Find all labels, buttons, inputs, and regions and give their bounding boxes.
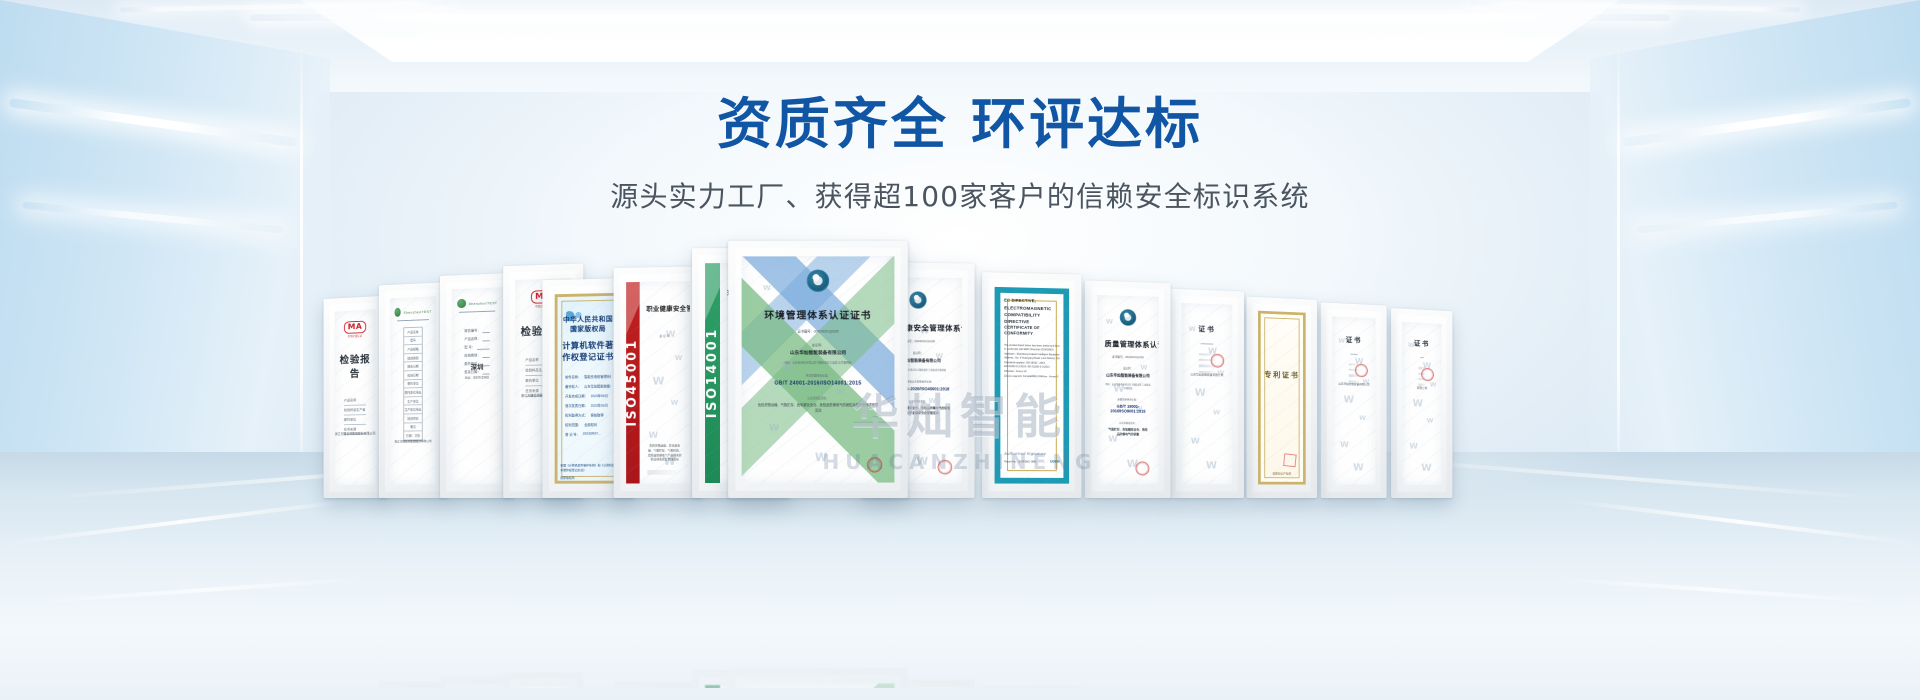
certificate-footer: 国家知识产权局 (1258, 472, 1306, 476)
certificate-body: 中华人民共和国国家版权局计算机软件著作权登记证书软件名称：智能充电桩管理系统 V… (555, 293, 622, 484)
iso-standard-sidebar: ISO14001 (705, 263, 720, 483)
paper-watermark-w: W (1191, 437, 1200, 446)
certificate-mat: WWWWWWW证书有限公司 (1397, 315, 1446, 492)
certificate-title: 计算机软件著作权登记证书 (561, 339, 614, 363)
paper-watermark-w: W (1427, 417, 1434, 424)
paper-watermark-w: W (1353, 461, 1364, 473)
certificate-field-label: 开发完成日期： (565, 393, 588, 398)
certificate-issuer-name: ShenzhenTEST (403, 309, 431, 315)
cert-text-line: 委托单位 (344, 415, 366, 425)
certificate-frame-cert-14[interactable]: WWWWWWW证书山东华灿智能装备有限公司 (1321, 302, 1387, 498)
paper-watermark-w: W (666, 330, 676, 340)
cert-text-line: 检测项目 (404, 414, 422, 423)
paper-watermark-w: W (1413, 397, 1423, 409)
certificate-paper: ISO45001WWWWWWW职业健康安全管理体系认证证书兹 证 明危险货物运输… (626, 281, 690, 483)
certificate-field-value: 2023SR07... (583, 432, 611, 437)
certificate-frame-cert-02[interactable]: ShenzhenTEST产品名称型号产品规格检测类别报告日期检测日期委托单位委托… (379, 282, 448, 498)
certificate-title: 证书 (1337, 334, 1372, 345)
certificate-scope-label: 认证范围及活动： (1105, 421, 1152, 425)
cma-badge-block: MA中国计量认证 (339, 320, 372, 338)
certificate-footnote: 依据《计算机软件保护条例》和《计算机软件著作权登记办法》 (560, 463, 615, 472)
certificate-field-label: 著作权人： (565, 384, 581, 389)
certificate-field-value (482, 338, 489, 342)
certificate-divider (397, 319, 429, 321)
certificate-field-value (482, 355, 489, 359)
certificate-mat: WWWWWWW质量管理体系认证证书证书编号：00Q9001Q0095兹证明：山东… (1091, 287, 1164, 491)
certificate-footer: 深圳 (452, 362, 503, 372)
paper-watermark-w: W (1359, 414, 1366, 421)
certificate-field-row: 软件名称：智能充电桩管理系统 V1.0 (565, 374, 611, 379)
page-title: 资质齐全 环评达标 (0, 92, 1920, 157)
certificate-footer: 山东华灿智能装备有限公司 (1332, 382, 1375, 387)
certificate-body-lines: The product listed below has been tested… (1004, 344, 1059, 380)
certificate-frame-cert-15[interactable]: WWWWWWW证书有限公司 (1391, 308, 1452, 498)
certificate-footer: 浙江方圆检测集团股份有限公司 (335, 431, 376, 436)
certificate-number: 证书编号：00Q9001Q0095 (1105, 355, 1152, 360)
certificate-field-label: 型 号： (464, 346, 475, 351)
certificate-scope: 气瓶贮存、危氧罐安全仓、危险品防爆电气的销售 (1105, 427, 1152, 436)
certificate-company-label: 兹证明： (751, 343, 886, 347)
certificate-body: WWWWWWW职业健康安全管理体系认证证书兹 证 明危险货物运输、危化品仓储、气… (639, 281, 690, 483)
certificate-heading-line: ELECTROMAGNETIC COMPATIBILITY DIRECTIVE (1004, 304, 1059, 326)
paper-watermark-w: W (1195, 387, 1206, 399)
certificate-paper: EC DIRECTIVE,ELECTROMAGNETIC COMPATIBILI… (995, 287, 1070, 484)
certificate-title: 检验报告 (339, 351, 372, 380)
certificate-frame-cert-13[interactable]: 专利证书国家知识产权局 (1246, 297, 1317, 498)
certificate-title: 质量管理体系认证证书 (1105, 339, 1152, 350)
page-subtitle: 源头实力工厂、获得超100家客户的信赖安全标识系统 (0, 175, 1920, 215)
certificate-standard-value: GB/T 24001-2016/ISO14001:2015 (751, 381, 886, 387)
certificate-paper: WWWWWWW证书山东华灿智能装备有限公司 (1332, 316, 1375, 484)
certificate-red-stamp-icon (866, 456, 884, 474)
paper-watermark-w: W (647, 306, 654, 314)
certificate-frame-cert-11[interactable]: WWWWWWW质量管理体系认证证书证书编号：00Q9001Q0095兹证明：山东… (1085, 280, 1171, 498)
certificate-standard-label: 环境管理体系标准： (751, 374, 886, 378)
certificate-field-value (482, 330, 489, 334)
certificate-paper: WWWWWWW证书有限公司 (1402, 322, 1441, 485)
ceiling-light-strip-2 (420, 36, 1500, 41)
certificate-field-row: 首次发表日期：2023年06月 (565, 403, 611, 408)
certificate-body: 环境管理体系认证证书证书编号：00R24001Q0095兹证明：山东华灿智能装备… (742, 256, 895, 482)
certificate-signature-block (647, 470, 682, 475)
certificate-frame-cert-06[interactable]: ISO45001WWWWWWW职业健康安全管理体系认证证书兹 证 明危险货物运输… (614, 266, 703, 498)
certificate-heading-line: CERTIFICATE OF CONFORMITY (1004, 325, 1059, 339)
certificate-scope-label: 认证范围及活动： (751, 396, 886, 400)
paper-watermark-w: W (653, 374, 665, 387)
banner-stage: 资质齐全 环评达标 源头实力工厂、获得超100家客户的信赖安全标识系统 MA中国… (0, 0, 1920, 700)
certificate-company-address: 地址：山东省济南市章丘区刁镇街道东工业园北京路西段 (1105, 382, 1152, 390)
ceiling-light-strip-1 (250, 14, 1670, 21)
certificate-scope: 危险货物运输、危化品仓储、气瓶贮存、气瓶检验、危险品防爆电气产品相关的职业健康安… (647, 444, 682, 462)
certificate-frame-cert-10[interactable]: EC DIRECTIVE,ELECTROMAGNETIC COMPATIBILI… (982, 272, 1081, 498)
certificate-mat: MA中国计量认证检验报告产品名称检验样品生产者委托单位任务来源浙江方圆检测集团股… (329, 302, 380, 492)
certificate-paper: WWWWWWW质量管理体系认证证书证书编号：00Q9001Q0095兹证明：山东… (1097, 295, 1158, 484)
certificate-divider (1201, 343, 1214, 344)
sidebar-corner-accent (626, 282, 639, 335)
certificate-company-name: 山东华灿智能装备有限公司 (1105, 373, 1152, 379)
certificate-field-label: 登 记 号： (565, 432, 580, 437)
certificate-divider (459, 311, 495, 313)
certificate-field-row: 检测类别： (464, 354, 489, 359)
certificate-paper: WWWWWWW环境管理体系认证证书证书编号：00R24001Q0095兹证明：山… (742, 256, 895, 482)
certificate-mat: 专利证书国家知识产权局 (1253, 303, 1311, 492)
certificate-paper-content: ShenzhenTEST报告编号：产品名称：型 号：检测类别：委托单位：签发日期… (452, 287, 503, 385)
certificate-title: 环境管理体系认证证书 (751, 307, 886, 321)
sidebar-corner-accent (705, 263, 720, 320)
certificate-field-row: 权利范围：全部权利 (565, 422, 611, 427)
certificate-company-name: 山东华灿智能装备有限公司 (751, 350, 886, 356)
certificate-footer: 山东华灿智能装备有限公司 (1181, 372, 1232, 377)
certificate-mat: WWWWWWW证书山东华灿智能装备有限公司 (1327, 309, 1381, 492)
ceiling-inner-panel (300, 0, 1620, 62)
certificate-company-address: 地址：山东省济南市章丘区刁镇街道东工业园 北京路西段 (751, 360, 886, 364)
certificate-field-value: 2023年06月 (591, 403, 611, 408)
paper-watermark-w: W (649, 431, 659, 441)
certificate-field-label: 软件名称： (565, 374, 581, 379)
certificate-paper: WWWWWWW证书山东华灿智能装备有限公司 (1181, 303, 1232, 484)
iso-standard-sidebar: ISO45001 (626, 282, 639, 483)
green-logo-icon (395, 308, 401, 317)
certificate-gold-frame (1258, 311, 1306, 485)
certification-seal-icon (1120, 309, 1136, 326)
paper-watermark-w: W (1213, 409, 1220, 416)
certificate-wall: MA中国计量认证检验报告产品名称检验样品生产者委托单位任务来源浙江方圆检测集团股… (0, 228, 1920, 498)
certificate-company-label: 兹证明： (1105, 366, 1152, 371)
certificate-mat: WWWWWWW环境管理体系认证证书证书编号：00R24001Q0095兹证明：山… (735, 248, 900, 491)
certificate-field-row: 著作权人：山东华灿智能装备有限公司 (565, 383, 611, 388)
certification-seal-icon (807, 270, 829, 292)
green-logo-icon (457, 299, 466, 309)
certificate-header: ShenzhenTEST (456, 298, 498, 309)
certificate-issuer: 国家版权局 (560, 476, 615, 480)
certificate-footer: 有限公司 (1402, 385, 1441, 390)
certificate-body: 质量管理体系认证证书证书编号：00Q9001Q0095兹证明：山东华灿智能装备有… (1097, 295, 1158, 484)
certificate-standard-value: GB/T 19001-2016/ISO9001:2015 (1105, 404, 1152, 414)
certificate-field-value: 原始取得 (591, 412, 611, 417)
certificate-frame-cert-12[interactable]: WWWWWWW证书山东华灿智能装备有限公司 (1170, 289, 1244, 498)
certificate-report-number: Report No. : 2024-EMC-0891 (1004, 460, 1036, 463)
certificate-field-row: 开发完成日期：2023年05月 (565, 393, 611, 398)
paper-watermark-w: W (1206, 459, 1217, 471)
iso-standard-label: ISO45001 (626, 339, 640, 428)
certificate-field-list: 产品名称检验样品生产者委托单位任务来源 (339, 395, 372, 434)
certificate-mat: EC DIRECTIVE,ELECTROMAGNETIC COMPATIBILI… (989, 279, 1075, 491)
certification-seal-icon (909, 291, 926, 308)
certificate-header-cn: 中华人民共和国国家版权局 (561, 314, 614, 334)
paper-watermark-w: W (671, 399, 679, 407)
certificate-red-stamp-icon (936, 458, 953, 475)
banner-heading-group: 资质齐全 环评达标 源头实力工厂、获得超100家客户的信赖安全标识系统 (0, 92, 1920, 215)
certificate-signature: Authorized Signature (1004, 451, 1046, 456)
paper-watermark-w: W (675, 354, 683, 362)
cert-text-line: 检验样品生产者 (344, 405, 366, 415)
certificate-field-list: 产品名称型号产品规格检测类别报告日期检测日期委托单位委托单位地址生产单位生产单位… (403, 327, 422, 442)
certificate-mat: ISO45001WWWWWWW职业健康安全管理体系认证证书兹 证 明危险货物运输… (620, 273, 695, 491)
cert-text-line: 生产单位地址 (404, 405, 422, 414)
certificate-field-list: 软件名称：智能充电桩管理系统 V1.0著作权人：山东华灿智能装备有限公司开发完成… (561, 374, 614, 437)
cert-text-line: 产品名称 (344, 396, 366, 406)
certificate-number: 证书编号：00R24001Q0095 (751, 329, 886, 334)
certificate-divider (1420, 357, 1423, 358)
certificate-field-value: 全部权利 (584, 422, 611, 427)
paper-watermark-w: W (1409, 443, 1418, 452)
paper-watermark-w: W (1344, 394, 1355, 406)
certificate-paper-content: 证书山东华灿智能装备有限公司 (1332, 316, 1375, 392)
certificate-field-label: 产品名称： (464, 337, 480, 342)
certificate-mat: ShenzhenTEST报告编号：产品名称：型 号：检测类别：委托单位：签发日期… (446, 280, 508, 492)
cma-seal-subtitle: 中国计量认证 (348, 334, 362, 338)
certificate-red-stamp-icon (1134, 460, 1151, 477)
certificate-body: EC DIRECTIVE,ELECTROMAGNETIC COMPATIBILI… (1004, 298, 1059, 473)
certificate-title: 证书 (1186, 323, 1228, 334)
certificate-issuer-name: ShenzhenTEST (468, 300, 497, 306)
certificate-paper-content: 证书有限公司 (1402, 322, 1441, 396)
certificate-paper-content: MA中国计量认证检验报告产品名称检验样品生产者委托单位任务来源浙江方圆检测集团股… (335, 310, 376, 441)
certificate-field-value: 2023年05月 (591, 393, 611, 398)
paper-watermark-w: W (1340, 441, 1349, 450)
certificate-mat: ShenzhenTEST产品名称型号产品规格检测类别报告日期检测日期委托单位委托… (385, 289, 441, 492)
certificate-paper: ShenzhenTEST产品名称型号产品规格检测类别报告日期检测日期委托单位委托… (390, 296, 436, 484)
certificate-paper: 中华人民共和国国家版权局计算机软件著作权登记证书软件名称：智能充电桩管理系统 V… (555, 293, 622, 484)
certificate-issuer: UDEM (1050, 460, 1059, 464)
certificate-paper-content: ShenzhenTEST产品名称型号产品规格检测类别报告日期检测日期委托单位委托… (390, 296, 436, 446)
cert-text-line: 生产单位 (404, 397, 422, 406)
certificate-paper: MA中国计量认证检验报告产品名称检验样品生产者委托单位任务来源浙江方圆检测集团股… (335, 310, 376, 485)
certificate-field-value: 山东华灿智能装备有限公司 (584, 383, 611, 388)
certificate-standard-label: 质量管理体系标准： (1105, 397, 1152, 401)
certificate-paper: 专利证书国家知识产权局 (1258, 311, 1306, 485)
certificate-field-value: 智能充电桩管理系统 V1.0 (584, 374, 611, 379)
cma-seal-icon: MA (344, 321, 366, 334)
certificate-field-value (477, 346, 490, 350)
certificate-field-row: 权利取得方式：原始取得 (565, 412, 611, 417)
certificate-mat: WWWWWWW证书山东华灿智能装备有限公司 (1176, 295, 1238, 491)
iso-standard-label: ISO14001 (705, 327, 720, 418)
certificate-frame-cert-01[interactable]: MA中国计量认证检验报告产品名称检验样品生产者委托单位任务来源浙江方圆检测集团股… (324, 296, 387, 498)
certificate-title: 专利证书 (1258, 370, 1306, 381)
paper-watermark-w: W (1421, 462, 1431, 474)
certificate-field-label: 检测类别： (464, 354, 480, 359)
certificate-red-stamp-icon (1283, 453, 1297, 467)
certificate-paper-content: 证书山东华灿智能装备有限公司 (1181, 303, 1232, 383)
certificate-divider (1351, 353, 1358, 354)
certificate-paper: ShenzhenTEST报告编号：产品名称：型 号：检测类别：委托单位：签发日期… (452, 287, 503, 484)
certificate-title: 证书 (1407, 338, 1438, 349)
certificate-field-label: 权利范围： (565, 422, 581, 427)
certificate-field-label: 权利取得方式： (565, 413, 588, 418)
certificate-field-label: 报告编号： (464, 329, 480, 334)
certificate-field-row: 型 号： (464, 345, 489, 350)
certificate-footer-sub: 地址：深圳市龙岗区 (452, 375, 503, 380)
certificate-scope: 危险货物运输、气瓶贮存、危氧罐安全仓、危险品防爆电气的销售及相关的环境管理活动 (751, 403, 886, 413)
certificate-header: ShenzhenTEST (395, 306, 432, 317)
certificate-field-row: 登 记 号：2023SR07... (565, 432, 611, 437)
cert-text-line: 备注 (404, 423, 422, 432)
certificate-field-label: 首次发表日期： (565, 403, 588, 408)
certificate-field-row: 产品名称： (464, 337, 489, 342)
certificate-frame-cert-08[interactable]: WWWWWWW环境管理体系认证证书证书编号：00R24001Q0095兹证明：山… (728, 241, 908, 498)
certificate-footer: 浙江方圆检测集团股份有限公司 (390, 439, 436, 443)
certificate-field-row: 报告编号： (464, 329, 489, 334)
certificate-body-line: Electromagnetic Compatibility Directive … (1004, 374, 1059, 379)
